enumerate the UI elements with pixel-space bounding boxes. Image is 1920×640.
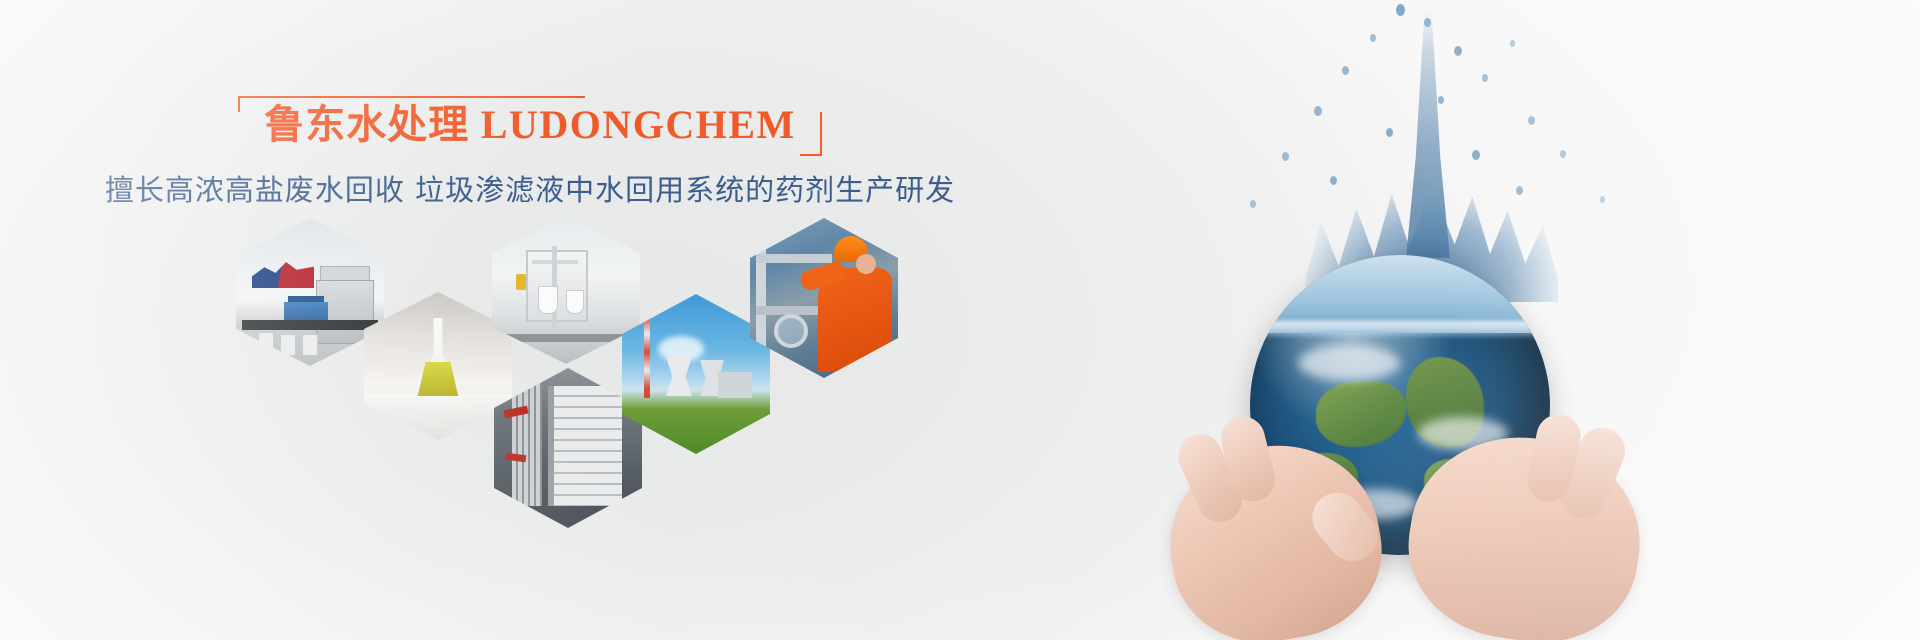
hex-flask-sample <box>364 292 512 440</box>
lab-bench <box>492 334 640 342</box>
water-droplet <box>1510 40 1515 47</box>
hands-holding-globe <box>1170 398 1640 640</box>
water-droplet <box>1560 150 1566 158</box>
lab-bench <box>242 320 378 330</box>
bracket-bottom-right-icon <box>800 112 822 156</box>
water-droplet <box>1314 106 1322 116</box>
yellow-liquid <box>416 362 460 396</box>
water-droplet <box>1472 150 1480 160</box>
hex-engineer <box>750 218 898 378</box>
hero-banner: 鲁东水处理 LUDONGCHEM 擅长高浓高盐废水回收 垃圾渗滤液中水回用系统的… <box>0 0 1920 640</box>
water-globe-artwork <box>1060 0 1920 640</box>
globe-waterline <box>1250 321 1550 337</box>
hex-engineer-photo <box>750 218 898 378</box>
chemical-jug <box>302 334 318 356</box>
worker-face <box>856 254 876 274</box>
chemical-jug <box>258 332 274 354</box>
reagent-bottle <box>516 274 526 290</box>
water-droplet <box>1516 186 1523 195</box>
water-droplet <box>1342 66 1349 75</box>
brand-subtitle: 擅长高浓高盐废水回收 垃圾渗滤液中水回用系统的药剂生产研发 <box>0 172 1060 208</box>
pipe-bundle <box>512 382 542 506</box>
water-droplet <box>1282 152 1289 161</box>
water-droplet <box>1600 196 1605 203</box>
plant-building <box>718 372 752 398</box>
chimney-stack <box>644 316 650 398</box>
hex-lab-room-photo <box>236 218 384 366</box>
water-droplet <box>1330 176 1337 185</box>
headline-block: 鲁东水处理 LUDONGCHEM 擅长高浓高盐废水回收 垃圾渗滤液中水回用系统的… <box>0 96 1060 208</box>
hex-ro-skid-photo <box>494 368 642 528</box>
valve-wheel <box>774 314 808 348</box>
water-droplet <box>1250 200 1256 208</box>
hex-lab-glassware <box>492 216 640 364</box>
chemical-jug <box>280 334 296 356</box>
hex-power-plant-photo <box>622 294 770 454</box>
water-droplet <box>1424 18 1431 27</box>
hex-flask-sample-photo <box>364 292 512 440</box>
hex-power-plant <box>622 294 770 454</box>
membrane-vessels <box>548 386 622 506</box>
cooling-tower <box>666 356 692 396</box>
water-droplet <box>1396 4 1405 16</box>
table-surface <box>364 394 512 440</box>
glass-beaker <box>566 290 584 314</box>
glass-beaker <box>538 286 558 314</box>
bracket-top-left-icon <box>238 96 585 112</box>
water-droplet <box>1482 74 1488 82</box>
water-droplet <box>1454 46 1462 56</box>
hexagon-gallery <box>236 216 1036 546</box>
cloud <box>1298 345 1400 381</box>
water-droplet <box>1370 34 1376 42</box>
wall-slogan-graphic <box>252 262 314 288</box>
brand-title-wrapper: 鲁东水处理 LUDONGCHEM <box>238 96 822 156</box>
water-droplet <box>1438 96 1444 104</box>
hex-ro-skid <box>494 368 642 528</box>
horizontal-pipe <box>756 254 832 263</box>
membrane-frame <box>548 386 554 506</box>
red-valve-handle <box>506 453 527 463</box>
water-droplet <box>1528 116 1535 125</box>
lab-instrument <box>284 302 328 322</box>
hex-lab-glassware-photo <box>492 216 640 364</box>
hex-lab-room <box>236 218 384 366</box>
water-droplet <box>1386 128 1393 137</box>
